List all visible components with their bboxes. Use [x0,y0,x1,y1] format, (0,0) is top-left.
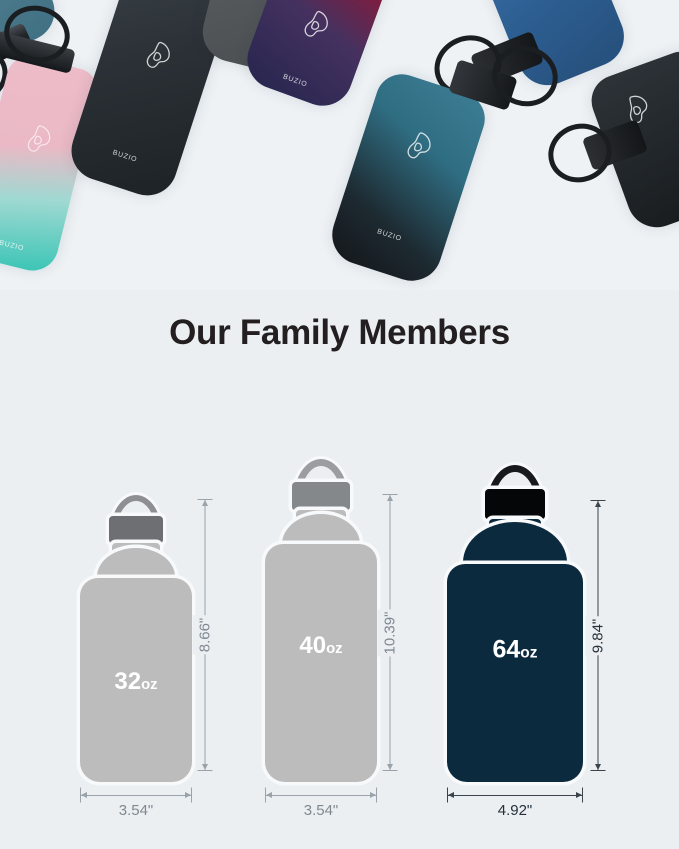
height-value-64oz: 9.84" [586,616,611,655]
width-dimension-40oz: 3.54" [265,795,377,811]
capacity-unit-32oz: oz [141,677,158,693]
width-value-40oz: 3.54" [304,802,339,819]
bottle-spec-64oz: 64oz 9.84" 4.92" [447,480,583,849]
photo-bottle-wordmark: BUZIO [376,228,402,243]
capacity-value-32oz: 32 [114,668,141,695]
dimension-arrow-right-icon [370,792,376,798]
dimension-arrow-up-icon [387,495,393,501]
bottle-cap-collar-40oz [292,482,350,510]
capacity-unit-40oz: oz [326,641,343,657]
page-title: Our Family Members [0,313,679,353]
capacity-label-64oz: 64oz [492,638,537,663]
height-dimension-64oz: 9.84" [590,500,606,771]
photo-bottle-logo-icon [19,120,56,160]
dimension-tick-right [582,788,583,803]
width-value-32oz: 3.54" [119,802,154,819]
width-dimension-64oz: 4.92" [447,795,583,811]
dimension-arrow-right-icon [576,792,582,798]
capacity-label-40oz: 40oz [299,634,342,658]
dimension-arrow-right-icon [185,792,191,798]
dimension-tick-bottom [198,770,213,771]
capacity-value-64oz: 64 [492,636,520,664]
width-dimension-32oz: 3.54" [80,795,192,811]
height-value-40oz: 10.39" [378,609,403,656]
dimension-arrow-left-icon [81,792,87,798]
height-value-32oz: 8.66" [193,616,218,655]
size-comparison-diagram: 32oz 8.66" 3.54" [0,440,679,849]
dimension-line [80,795,192,796]
bottle-body-64oz [447,564,583,782]
dimension-tick-right [376,788,377,803]
photo-bottle-logo-icon [399,126,438,168]
photo-bottle-wordmark: BUZIO [0,240,25,253]
dimension-arrow-down-icon [202,764,208,770]
product-size-infographic: BUZIO BUZIO BUZIO [0,0,679,849]
dimension-arrow-down-icon [595,764,601,770]
bottle-illustration-40oz: 40oz [265,456,377,782]
bottle-cap-collar-64oz [485,489,545,519]
hero-product-photo-collage: BUZIO BUZIO BUZIO [0,0,679,290]
bottle-body-40oz [265,544,377,782]
bottle-spec-32oz: 32oz 8.66" 3.54" [80,480,192,849]
dimension-arrow-left-icon [266,792,272,798]
capacity-value-40oz: 40 [299,632,326,659]
dimension-arrow-up-icon [202,500,208,506]
bottle-illustration-64oz: 64oz [447,462,583,782]
dimension-line [447,795,583,796]
dimension-arrow-up-icon [595,501,601,507]
photo-bottle-wordmark: BUZIO [112,149,138,164]
bottle-cap-collar-32oz [109,516,163,543]
dimension-tick-bottom [383,770,398,771]
dimension-arrow-down-icon [387,764,393,770]
capacity-label-32oz: 32oz [114,670,157,694]
dimension-tick-right [191,788,192,803]
capacity-unit-64oz: oz [520,645,537,662]
dimension-line [265,795,377,796]
dimension-arrow-left-icon [448,792,454,798]
dimension-tick-bottom [591,770,606,771]
photo-bottle-teal-black-ombre: BUZIO [324,67,491,288]
bottle-spec-40oz: 40oz 10.39" 3.54" [265,480,377,849]
height-dimension-32oz: 8.66" [197,499,213,771]
width-value-64oz: 4.92" [498,802,533,819]
height-dimension-40oz: 10.39" [382,494,398,771]
photo-bottle-logo-icon [138,35,177,77]
photo-bottle-logo-icon [295,4,335,46]
bottle-illustration-32oz: 32oz [80,492,192,782]
photo-bottle-wordmark: BUZIO [282,73,308,88]
